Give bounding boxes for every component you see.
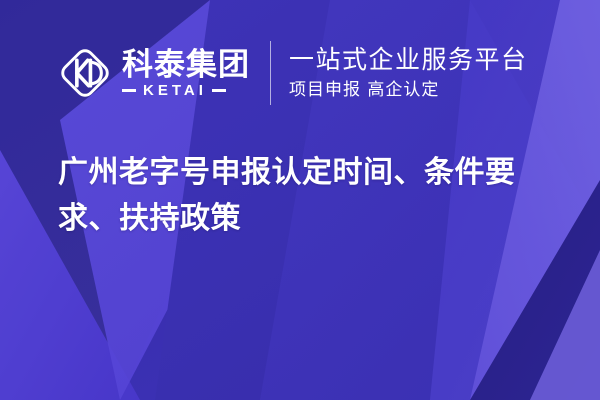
brand-logo: 科泰集团 KETAI: [56, 42, 250, 104]
banner-title: 广州老字号申报认定时间、条件要求、扶持政策: [58, 150, 568, 242]
promo-banner: 科泰集团 KETAI 一站式企业服务平台 项目申报 高企认定 广州老字号申报认定…: [0, 0, 600, 400]
ketai-diamond-kd-monogram-icon: [56, 44, 114, 102]
brand-name-cn: 科泰集团: [122, 49, 250, 82]
tagline-sub: 项目申报 高企认定: [289, 78, 528, 102]
banner-header: 科泰集团 KETAI 一站式企业服务平台 项目申报 高企认定: [56, 36, 528, 110]
brand-dash-left-icon: [122, 89, 136, 92]
brand-name-en-row: KETAI: [122, 84, 250, 98]
brand-name-en: KETAI: [136, 83, 212, 98]
brand-wordmark: 科泰集团 KETAI: [122, 44, 250, 102]
tagline-main: 一站式企业服务平台: [289, 45, 528, 75]
brand-dash-right-icon: [212, 89, 226, 92]
tagline-block: 一站式企业服务平台 项目申报 高企认定: [289, 40, 528, 106]
header-divider: [270, 41, 271, 105]
